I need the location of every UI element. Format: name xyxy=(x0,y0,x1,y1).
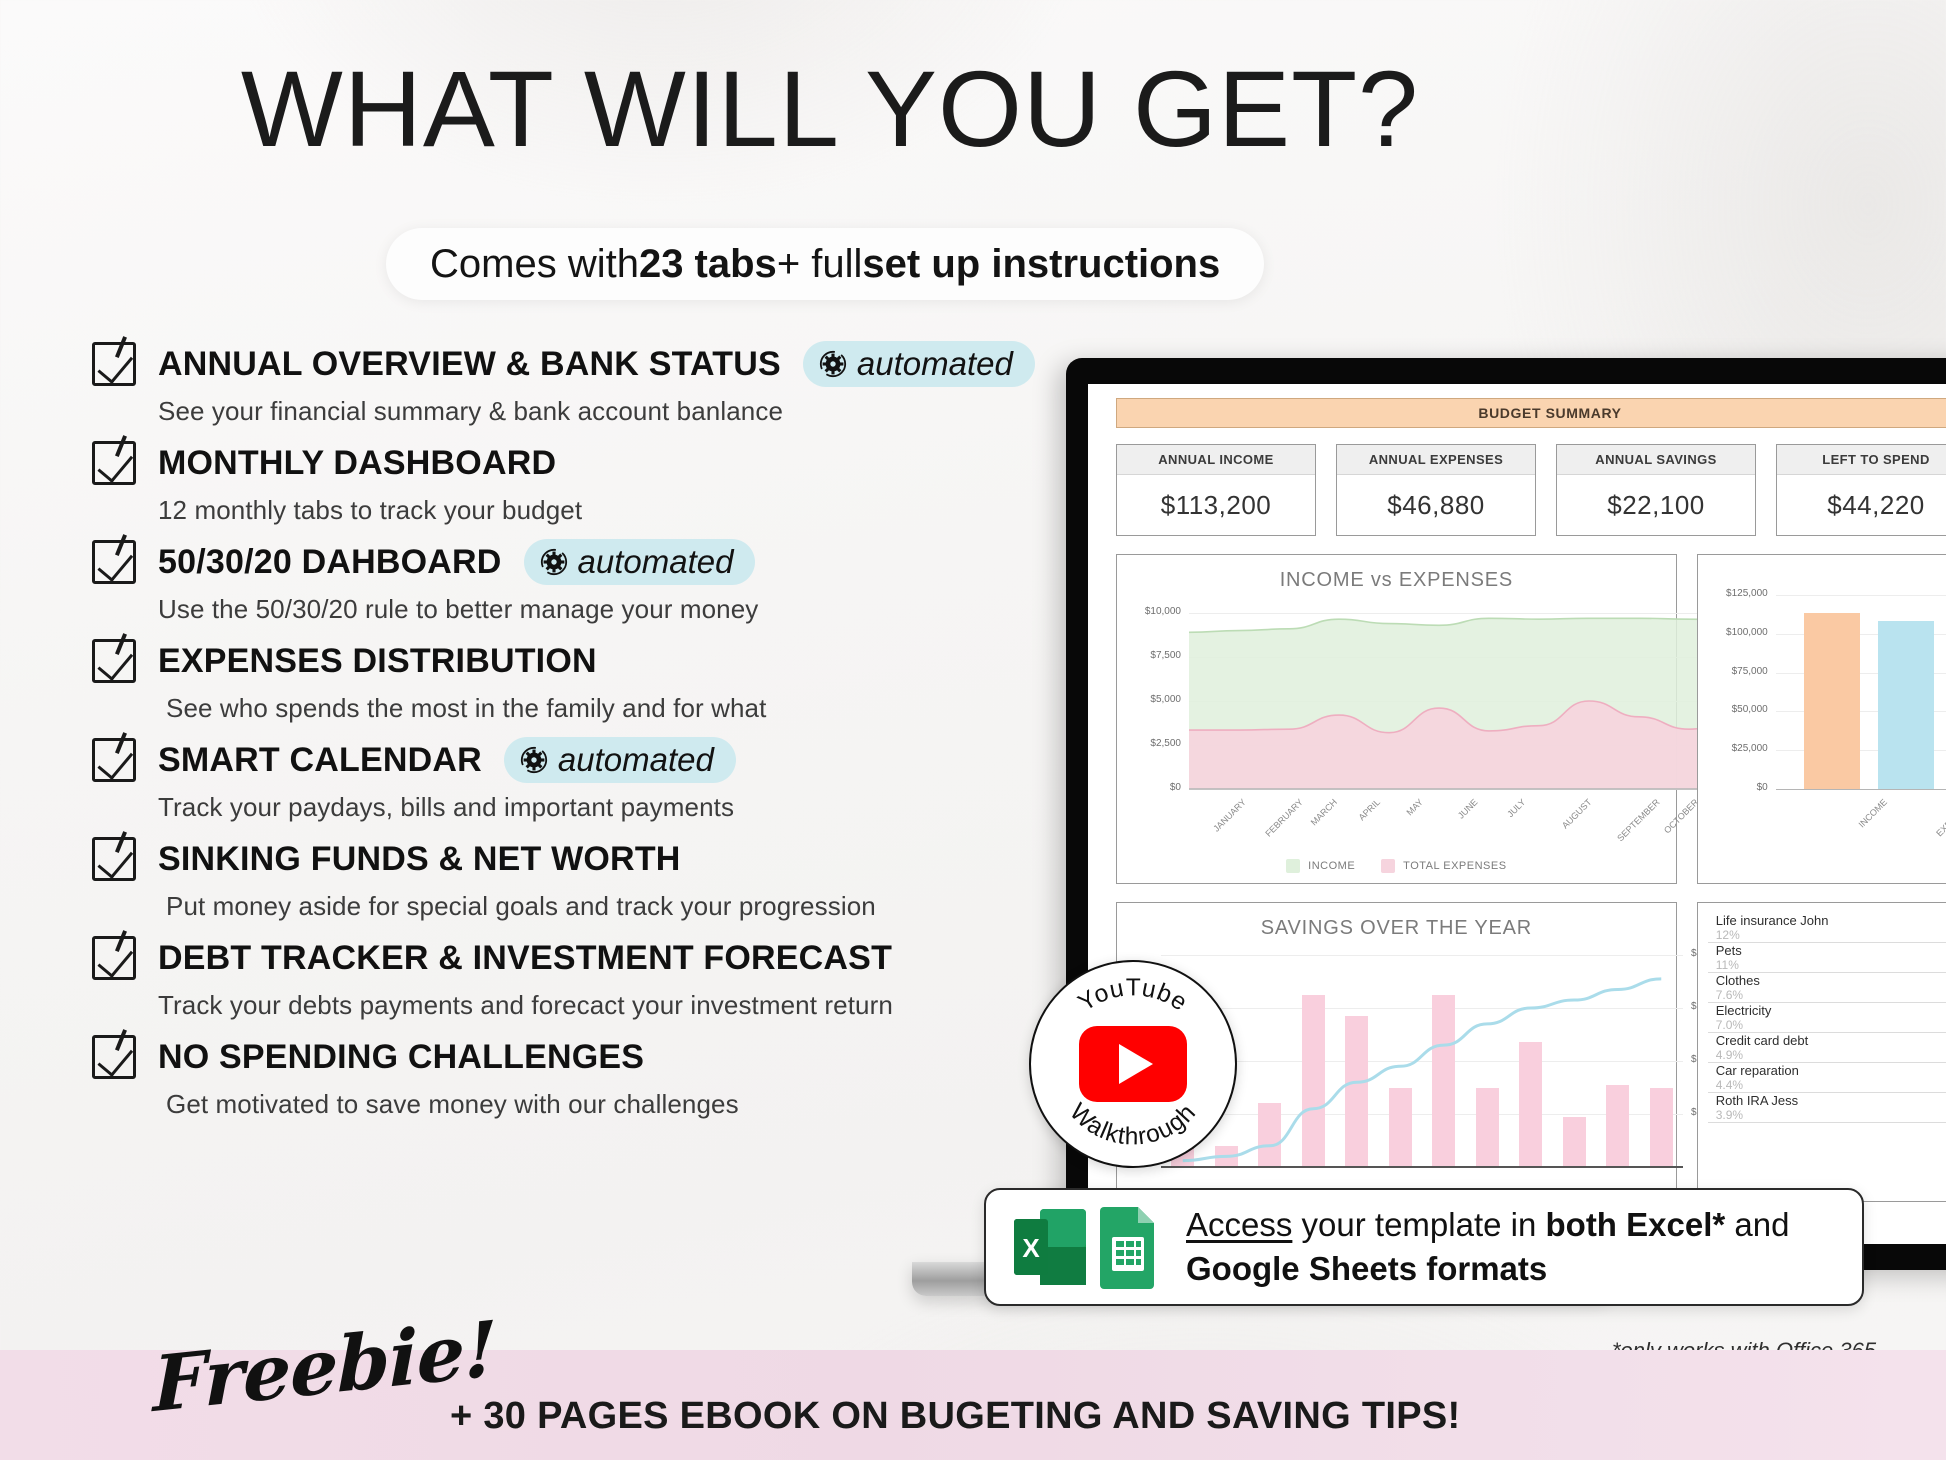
kpi-value: $46,880 xyxy=(1337,475,1535,535)
list-item: Electricity 7.0% xyxy=(1708,1003,1946,1033)
x-axis-tick: INCOME xyxy=(1856,797,1889,830)
legend-item: TOTAL EXPENSES xyxy=(1381,859,1506,873)
feature-description: Get motivated to save money with our cha… xyxy=(166,1089,1112,1120)
automated-badge-label: automated xyxy=(857,345,1013,383)
expense-name: Electricity xyxy=(1716,1003,1772,1018)
youtube-play-icon[interactable] xyxy=(1079,1026,1187,1102)
expense-name: Car reparation xyxy=(1716,1063,1799,1078)
kpi-label: ANNUAL SAVINGS xyxy=(1557,445,1755,475)
feature-title: NO SPENDING CHALLENGES xyxy=(158,1038,644,1077)
feature-description: Use the 50/30/20 rule to better manage y… xyxy=(158,594,1112,625)
kpi-value: $44,220 xyxy=(1777,475,1946,535)
kpi-label: ANNUAL EXPENSES xyxy=(1337,445,1535,475)
callout-text: Access your template in both Excel* and … xyxy=(1186,1203,1789,1290)
y-axis-tick: $100,000 xyxy=(1702,627,1768,638)
gear-icon xyxy=(520,746,548,774)
feature-title: EXPENSES DISTRIBUTION xyxy=(158,642,597,681)
feature-head: SMART CALENDAR automated xyxy=(92,734,1112,786)
feature-item: DEBT TRACKER & INVESTMENT FORECAST Track… xyxy=(92,932,1112,1021)
list-item: Clothes 7.6% xyxy=(1708,973,1946,1003)
feature-head: MONTHLY DASHBOARD xyxy=(92,437,1112,489)
area-chart-svg xyxy=(1117,555,1757,885)
bar xyxy=(1878,621,1934,789)
y-axis-tick: $50,000 xyxy=(1702,704,1768,715)
callout-excel-label: both Excel* xyxy=(1546,1206,1726,1243)
feature-item: SINKING FUNDS & NET WORTH Put money asid… xyxy=(92,833,1112,922)
expense-name: Clothes xyxy=(1716,973,1760,988)
youtube-arc-bottom: Walkthrough xyxy=(1064,1098,1201,1150)
kpi-value: $113,200 xyxy=(1117,475,1315,535)
y-axis-tick: $75,000 xyxy=(1702,666,1768,677)
google-sheets-icon xyxy=(1096,1205,1160,1289)
expense-percent: 4.4% xyxy=(1716,1078,1743,1092)
income-vs-expenses-chart: INCOME vs EXPENSES$0$2,500$5,000$7,500$1… xyxy=(1116,554,1677,884)
expense-name: Pets xyxy=(1716,943,1742,958)
ebook-banner-text: + 30 PAGES EBOOK ON BUGETING AND SAVING … xyxy=(450,1395,1460,1438)
y-axis-tick: $25,000 xyxy=(1702,743,1768,754)
expense-percent: 7.0% xyxy=(1716,1018,1743,1032)
feature-item: EXPENSES DISTRIBUTION See who spends the… xyxy=(92,635,1112,724)
callout-line1-rest: your template in xyxy=(1292,1206,1545,1243)
list-item: Pets 11% xyxy=(1708,943,1946,973)
callout-sheets-label: Google Sheets formats xyxy=(1186,1250,1547,1287)
svg-text:X: X xyxy=(1022,1233,1040,1263)
feature-description: See your financial summary & bank accoun… xyxy=(158,396,1112,427)
list-item: Roth IRA Jess 3.9% xyxy=(1708,1093,1946,1123)
checkbox-checked-icon[interactable] xyxy=(92,936,136,980)
gear-icon xyxy=(819,350,847,378)
budget-summary-title: BUDGET SUMMARY xyxy=(1478,405,1621,421)
feature-title: MONTHLY DASHBOARD xyxy=(158,444,556,483)
expense-name: Roth IRA Jess xyxy=(1716,1093,1798,1108)
expense-percent: 7.6% xyxy=(1716,988,1743,1002)
feature-title: DEBT TRACKER & INVESTMENT FORECAST xyxy=(158,939,892,978)
callout-line-2: Google Sheets formats xyxy=(1186,1247,1789,1291)
excel-icon: X xyxy=(1014,1205,1090,1289)
feature-checklist: ANNUAL OVERVIEW & BANK STATUS automated … xyxy=(92,338,1112,1130)
subtitle-pill: Comes with 23 tabs + full set up instruc… xyxy=(386,228,1264,300)
subtitle-instructions: set up instructions xyxy=(862,242,1220,287)
kpi-card: ANNUAL EXPENSES $46,880 xyxy=(1336,444,1536,536)
page-title: WHAT WILL YOU GET? xyxy=(0,52,1660,165)
format-icons: X xyxy=(1014,1205,1160,1289)
feature-head: ANNUAL OVERVIEW & BANK STATUS automated xyxy=(92,338,1112,390)
checkbox-checked-icon[interactable] xyxy=(92,639,136,683)
feature-description: 12 monthly tabs to track your budget xyxy=(158,495,1112,526)
expense-name: Credit card debt xyxy=(1716,1033,1809,1048)
feature-title: 50/30/20 DAHBOARD xyxy=(158,543,502,582)
feature-head: EXPENSES DISTRIBUTION xyxy=(92,635,1112,687)
feature-description: Track your debts payments and forecact y… xyxy=(158,990,1112,1021)
checkbox-checked-icon[interactable] xyxy=(92,738,136,782)
subtitle-tabs-count: 23 tabs xyxy=(639,242,777,287)
budget-summary-header: BUDGET SUMMARY xyxy=(1116,398,1946,428)
automated-badge: automated xyxy=(803,341,1035,387)
checkbox-checked-icon[interactable] xyxy=(92,1035,136,1079)
kpi-label: ANNUAL INCOME xyxy=(1117,445,1315,475)
legend-item: INCOME xyxy=(1286,859,1355,873)
feature-item: ANNUAL OVERVIEW & BANK STATUS automated … xyxy=(92,338,1112,427)
list-item: Credit card debt 4.9% xyxy=(1708,1033,1946,1063)
feature-item: 50/30/20 DAHBOARD automated Use the 50/3… xyxy=(92,536,1112,625)
feature-description: Put money aside for special goals and tr… xyxy=(166,891,1112,922)
automated-badge: automated xyxy=(524,539,756,585)
subtitle-middle: + full xyxy=(777,242,863,287)
callout-access-link[interactable]: Access xyxy=(1186,1206,1292,1243)
feature-title: ANNUAL OVERVIEW & BANK STATUS xyxy=(158,345,781,384)
expense-breakdown-list: Life insurance John 12% Pets 11% Clothes… xyxy=(1697,902,1946,1202)
kpi-card: LEFT TO SPEND $44,220 xyxy=(1776,444,1946,536)
kpi-card: ANNUAL SAVINGS $22,100 xyxy=(1556,444,1756,536)
y-axis-tick: $0 xyxy=(1702,782,1768,793)
checkbox-checked-icon[interactable] xyxy=(92,342,136,386)
x-axis-tick: EXPENSES xyxy=(1934,797,1946,838)
bar xyxy=(1804,613,1860,789)
list-item: Car reparation 4.4% xyxy=(1708,1063,1946,1093)
feature-title: SMART CALENDAR xyxy=(158,741,482,780)
feature-item: SMART CALENDAR automated Track your payd… xyxy=(92,734,1112,823)
callout-line1-tail: and xyxy=(1725,1206,1789,1243)
income-expenses-bar-chart: $0$25,000$50,000$75,000$100,000$125,000I… xyxy=(1697,554,1946,884)
y-axis-tick: $125,000 xyxy=(1702,588,1768,599)
chart-legend: INCOME TOTAL EXPENSES xyxy=(1117,859,1676,873)
kpi-value: $22,100 xyxy=(1557,475,1755,535)
expense-percent: 11% xyxy=(1716,958,1739,972)
automated-badge-label: automated xyxy=(578,543,734,581)
charts-row-bottom: SAVINGS OVER THE YEAR$1,000$2,000$3,000$… xyxy=(1116,902,1946,1202)
checkbox-checked-icon[interactable] xyxy=(92,837,136,881)
expense-percent: 4.9% xyxy=(1716,1048,1743,1062)
feature-head: 50/30/20 DAHBOARD automated xyxy=(92,536,1112,588)
feature-head: DEBT TRACKER & INVESTMENT FORECAST xyxy=(92,932,1112,984)
expense-percent: 12% xyxy=(1716,928,1740,942)
expense-name: Life insurance John xyxy=(1716,913,1829,928)
automated-badge-label: automated xyxy=(558,741,714,779)
youtube-arc-top: YouTube xyxy=(1074,974,1193,1017)
list-item: Life insurance John 12% xyxy=(1708,913,1946,943)
kpi-card: ANNUAL INCOME $113,200 xyxy=(1116,444,1316,536)
kpi-label: LEFT TO SPEND xyxy=(1777,445,1946,475)
checkbox-checked-icon[interactable] xyxy=(92,540,136,584)
gear-icon xyxy=(540,548,568,576)
feature-item: MONTHLY DASHBOARD 12 monthly tabs to tra… xyxy=(92,437,1112,526)
callout-line-1: Access your template in both Excel* and xyxy=(1186,1203,1789,1247)
feature-head: NO SPENDING CHALLENGES xyxy=(92,1031,1112,1083)
charts-row-top: INCOME vs EXPENSES$0$2,500$5,000$7,500$1… xyxy=(1116,554,1946,884)
youtube-walkthrough-badge[interactable]: YouTube Walkthrough xyxy=(1029,960,1237,1168)
feature-description: Track your paydays, bills and important … xyxy=(158,792,1112,823)
automated-badge: automated xyxy=(504,737,736,783)
feature-title: SINKING FUNDS & NET WORTH xyxy=(158,840,681,879)
kpi-row: ANNUAL INCOME $113,200ANNUAL EXPENSES $4… xyxy=(1116,444,1946,536)
format-availability-callout: X Access your template in both Excel* an… xyxy=(984,1188,1864,1306)
feature-description: See who spends the most in the family an… xyxy=(166,693,1112,724)
subtitle-prefix: Comes with xyxy=(430,242,639,287)
feature-head: SINKING FUNDS & NET WORTH xyxy=(92,833,1112,885)
checkbox-checked-icon[interactable] xyxy=(92,441,136,485)
expense-percent: 3.9% xyxy=(1716,1108,1743,1122)
feature-item: NO SPENDING CHALLENGES Get motivated to … xyxy=(92,1031,1112,1120)
